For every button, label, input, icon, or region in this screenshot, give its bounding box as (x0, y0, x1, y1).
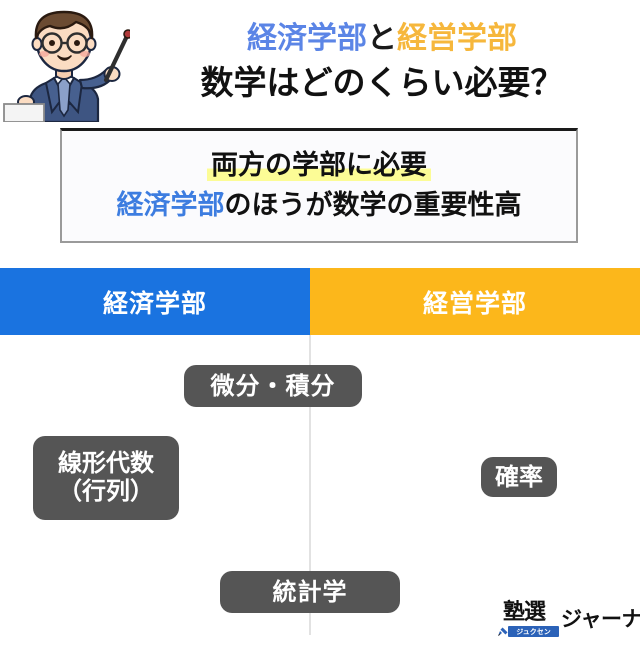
column-headers: 経済学部 経営学部 (0, 268, 640, 335)
title-line-2: 数学はどのくらい必要？ (201, 61, 564, 105)
title-conjunction: と (367, 21, 397, 56)
title-line-1: 経済学部と経営学部 (247, 19, 517, 59)
summary-line-2: 経済学部のほうが数学の重要性高 (117, 189, 522, 223)
logo-wordmark: ジャーナル (561, 606, 640, 632)
subject-tag-linear-algebra: 線形代数 （行列） (33, 436, 179, 520)
column-header-management: 経営学部 (310, 268, 640, 335)
subject-tag-calculus: 微分・積分 (184, 365, 362, 407)
page-title: 経済学部と経営学部 数学はどのくらい必要？ (132, 6, 632, 118)
summary-line-2-rest: のほうが数学の重要性高 (225, 190, 522, 221)
subject-tag-statistics: 統計学 (220, 571, 400, 613)
subject-tag-probability: 確率 (481, 457, 557, 497)
teacher-with-pointer-illustration (2, 4, 130, 122)
pencil-icon (498, 625, 510, 637)
summary-faculty-economics: 経済学部 (117, 190, 225, 221)
summary-line-1: 両方の学部に必要 (207, 149, 431, 183)
subject-tag-linear-algebra-line1: 線形代数 (58, 449, 154, 477)
brand-logo: 塾選 ジュクセン ジャーナル (503, 601, 631, 643)
header: 経済学部と経営学部 数学はどのくらい必要？ (0, 0, 640, 122)
logo-kanji: 塾選 (503, 601, 545, 625)
column-header-economics: 経済学部 (0, 268, 310, 335)
logo-banner-text: ジュクセン (508, 626, 559, 637)
summary-highlighted-text: 両方の学部に必要 (207, 150, 431, 181)
logo-banner: ジュクセン (508, 626, 559, 637)
title-faculty-management: 経営学部 (397, 21, 517, 56)
subject-tag-linear-algebra-line2: （行列） (58, 477, 154, 505)
title-faculty-economics: 経済学部 (247, 21, 367, 56)
logo-mark: 塾選 ジュクセン (503, 601, 559, 643)
summary-box: 両方の学部に必要 経済学部のほうが数学の重要性高 (60, 128, 578, 243)
